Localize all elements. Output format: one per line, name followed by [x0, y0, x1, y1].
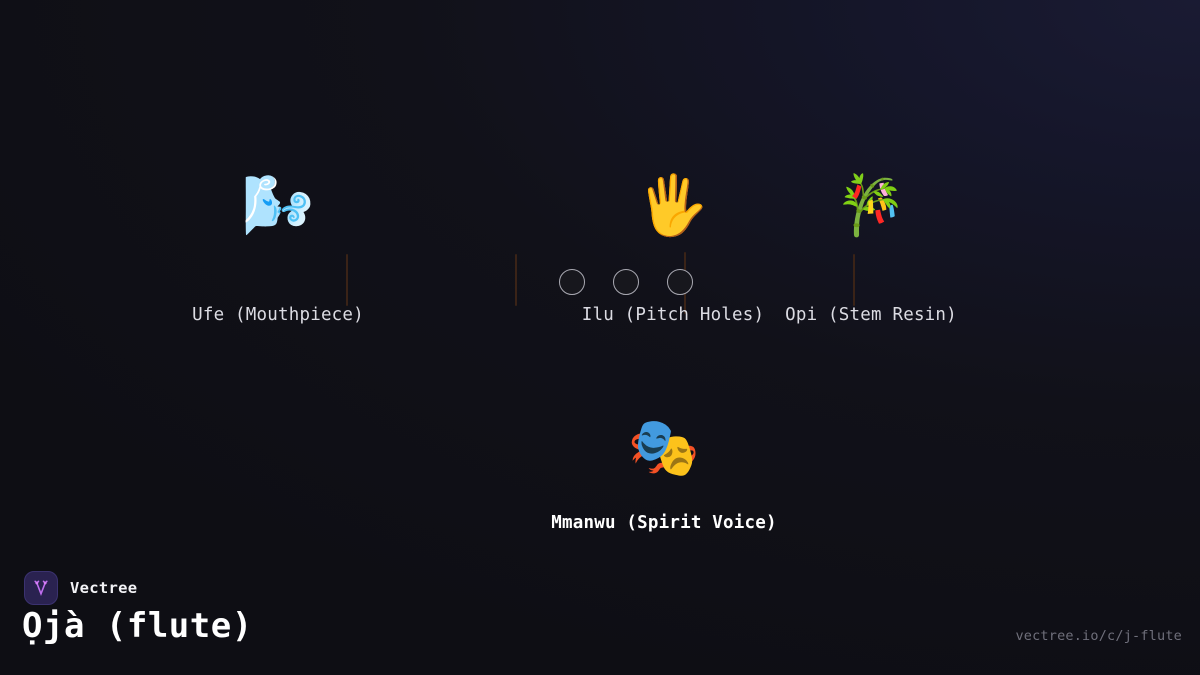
footer-bar: Vectree Ọjà (flute) vectree.io/c/j-flute	[0, 555, 1200, 675]
tree-node-ufe[interactable]: 🌬️ Ufe (Mouthpiece)	[0, 168, 556, 326]
tree-node-label-ufe: Ufe (Mouthpiece)	[192, 304, 364, 326]
performing-arts-icon: 🎭	[628, 410, 700, 484]
brand[interactable]: Vectree	[24, 571, 137, 605]
diagram-canvas: 🌬️ Ufe (Mouthpiece) 🖐️ Ilu (Pitch Holes)…	[0, 0, 1200, 675]
footer-url: vectree.io/c/j-flute	[1015, 628, 1182, 644]
tree-node-label-mmanwu: Mmanwu (Spirit Voice)	[551, 512, 776, 534]
tanabata-tree-icon: 🎋	[835, 168, 907, 242]
brand-name: Vectree	[70, 579, 137, 597]
wind-face-icon: 🌬️	[242, 168, 314, 242]
vectree-logo-icon	[24, 571, 58, 605]
tree-node-mmanwu[interactable]: 🎭 Mmanwu (Spirit Voice)	[464, 410, 864, 534]
tree-node-opi[interactable]: 🎋 Opi (Stem Resin)	[713, 168, 1029, 326]
raised-hand-icon: 🖐️	[637, 168, 709, 242]
tree-node-label-opi: Opi (Stem Resin)	[785, 304, 957, 326]
page-title: Ọjà (flute)	[22, 605, 253, 647]
